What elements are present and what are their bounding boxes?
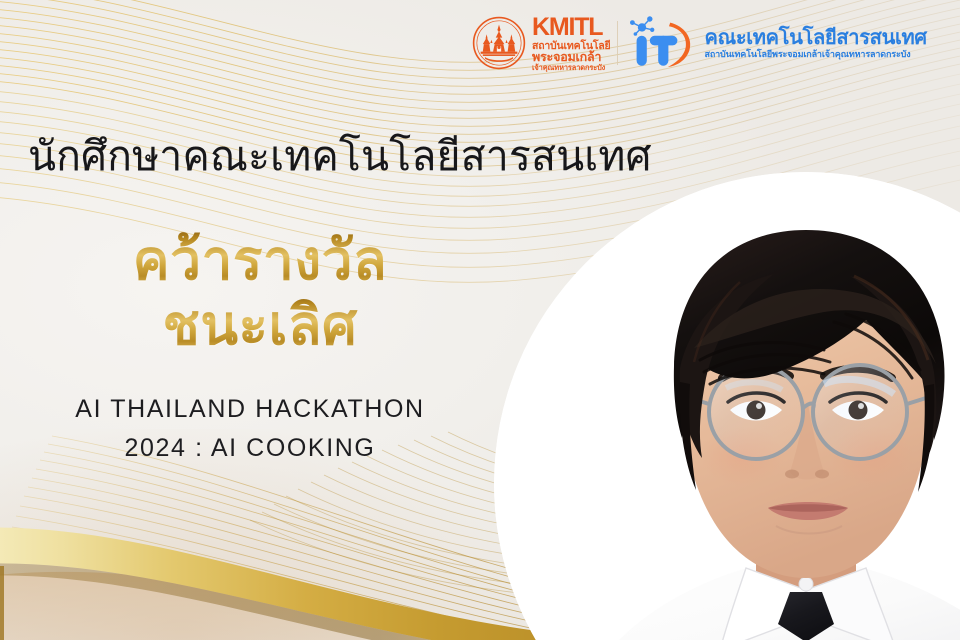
- it-faculty-institute: สถาบันเทคโนโลยีพระจอมเกล้าเจ้าคุณทหารลาด…: [704, 50, 926, 59]
- portrait-circle: [494, 172, 960, 640]
- event-line-1: AI THAILAND HACKATHON: [0, 390, 500, 429]
- it-faculty-wordmark: คณะเทคโนโลยีสารสนเทศ สถาบันเทคโนโลยีพระจ…: [704, 28, 926, 59]
- event-name-block: AI THAILAND HACKATHON 2024 : AI COOKING: [0, 390, 500, 468]
- kmitl-acronym: KMITL: [532, 15, 610, 40]
- kmitl-logo: KMITL สถาบันเทคโนโลยี พระจอมเกล้า เจ้าคุ…: [472, 15, 610, 71]
- student-portrait: [494, 172, 960, 640]
- kmitl-thai-line3: เจ้าคุณทหารลาดกระบัง: [532, 64, 610, 71]
- it-faculty-logo: คณะเทคโนโลยีสารสนเทศ สถาบันเทคโนโลยีพระจ…: [627, 14, 926, 72]
- logo-divider: [617, 21, 618, 65]
- award-line-2: ชนะเลิศ: [0, 293, 520, 358]
- award-line-1: คว้ารางวัล: [0, 228, 520, 293]
- logo-bar: KMITL สถาบันเทคโนโลยี พระจอมเกล้า เจ้าคุ…: [472, 10, 927, 76]
- page-title: นักศึกษาคณะเทคโนโลยีสารสนเทศ: [28, 134, 652, 180]
- event-line-2: 2024 : AI COOKING: [0, 429, 500, 468]
- it-faculty-logo-icon: [627, 14, 699, 72]
- kmitl-wordmark: KMITL สถาบันเทคโนโลยี พระจอมเกล้า เจ้าคุ…: [532, 15, 610, 71]
- kmitl-seal-icon: [472, 16, 526, 70]
- award-poster: KMITL สถาบันเทคโนโลยี พระจอมเกล้า เจ้าคุ…: [0, 0, 960, 640]
- kmitl-thai-line2: พระจอมเกล้า: [532, 51, 610, 64]
- award-headline-block: คว้ารางวัล ชนะเลิศ: [0, 228, 520, 358]
- it-faculty-name: คณะเทคโนโลยีสารสนเทศ: [704, 28, 926, 48]
